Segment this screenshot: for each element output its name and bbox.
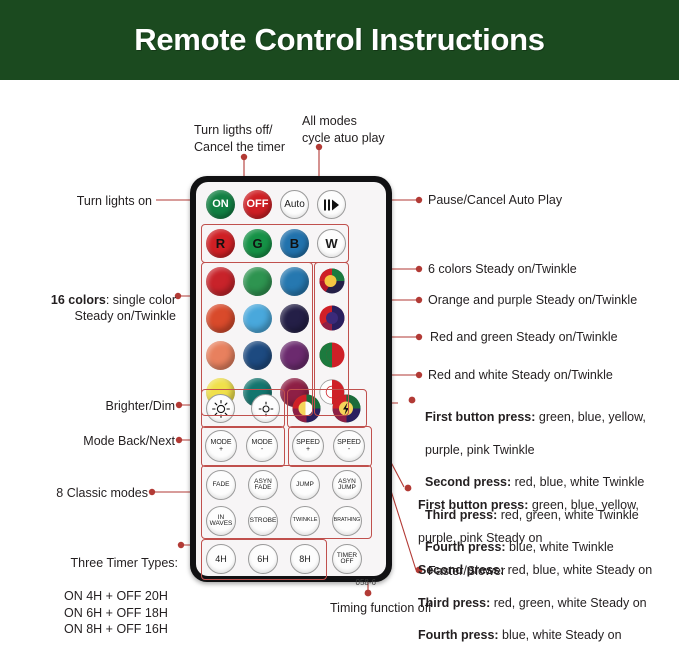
multicolor-twinkle-button[interactable]: [332, 394, 361, 423]
anno-16-colors: 16 colors: single color Steady on/Twinkl…: [18, 275, 176, 325]
color-swatch[interactable]: [280, 304, 309, 333]
pause-play-button[interactable]: [317, 190, 346, 219]
color-green-button[interactable]: G: [243, 229, 272, 258]
color-swatch[interactable]: [206, 267, 235, 296]
multicolor-wheel-icon: [292, 394, 321, 423]
color-swatch[interactable]: [280, 267, 309, 296]
power-off-button[interactable]: OFF: [243, 190, 272, 219]
anno-16-colors-bold: 16 colors: [51, 293, 106, 307]
st-1-rest: purple, pink Steady on: [418, 531, 542, 545]
brightness-up-button[interactable]: [206, 394, 235, 423]
anno-three-timer-types: Three Timer Types: ON 4H + OFF 20H ON 6H…: [22, 538, 178, 654]
color-swatch[interactable]: [243, 304, 272, 333]
mode-asyn-fade-button[interactable]: ASYN FADE: [248, 470, 278, 500]
red-green-wheel-icon: [319, 342, 345, 368]
color-swatch[interactable]: [243, 267, 272, 296]
page-title: Remote Control Instructions: [134, 22, 544, 58]
mode-asyn-jump-button[interactable]: ASYN JUMP: [332, 470, 362, 500]
color-white-button[interactable]: W: [317, 229, 346, 258]
color-red-button[interactable]: R: [206, 229, 235, 258]
anno-red-white: Red and white Steady on/Twinkle: [428, 367, 668, 384]
anno-mode-back-next: Mode Back/Next: [30, 433, 175, 450]
color-swatch[interactable]: [206, 304, 235, 333]
anno-faster-slower: Faster/Slower: [428, 563, 578, 580]
anno-orange-purple: Orange and purple Steady on/Twinkle: [428, 292, 678, 309]
mode-twinkle-button[interactable]: TWINKLE: [290, 506, 320, 536]
anno-timer-title: Three Timer Types:: [22, 555, 178, 572]
st-4-bold: Fourth press:: [418, 628, 499, 642]
st-3-rest: red, green, white Steady on: [490, 596, 646, 610]
mode-brathing-button[interactable]: BRATHING: [332, 506, 362, 536]
mode-minus-button[interactable]: MODE -: [246, 430, 278, 462]
timer-off-button[interactable]: TIMER OFF: [332, 544, 362, 574]
mode-strobe-button[interactable]: STROBE: [248, 506, 278, 536]
anno-8-classic-modes: 8 Classic modes: [20, 485, 148, 502]
mode-plus-button[interactable]: MODE +: [205, 430, 237, 462]
mode-fade-button[interactable]: FADE: [206, 470, 236, 500]
st-0-rest: green, blue, yellow,: [528, 498, 639, 512]
st-4-rest: blue, white Steady on: [499, 628, 622, 642]
brightness-down-icon: [256, 399, 276, 419]
timer-8h-button[interactable]: 8H: [290, 544, 320, 574]
orange-purple-button[interactable]: [319, 305, 345, 331]
anno-timing-function-off: Timing function off: [330, 600, 510, 617]
anno-brighter-dim: Brighter/Dim: [40, 398, 175, 415]
tw-1-rest: purple, pink Twinkle: [425, 443, 535, 457]
power-on-button[interactable]: ON: [206, 190, 235, 219]
brightness-down-button[interactable]: [251, 394, 280, 423]
multicolor-lightning-icon: [332, 394, 361, 423]
auto-button[interactable]: Auto: [280, 190, 309, 219]
color-swatch[interactable]: [243, 341, 272, 370]
orange-purple-wheel-icon: [319, 305, 345, 331]
speed-plus-button[interactable]: SPEED +: [292, 430, 324, 462]
remote-control-device: ON OFF Auto R G B W: [190, 176, 392, 582]
multicolor-steady-button[interactable]: [292, 394, 321, 423]
speed-minus-button[interactable]: SPEED -: [333, 430, 365, 462]
color-swatch[interactable]: [280, 341, 309, 370]
anno-red-green: Red and green Steady on/Twinkle: [430, 329, 670, 346]
six-color-wheel-icon: [319, 268, 345, 294]
anno-pause-cancel: Pause/Cancel Auto Play: [428, 192, 648, 209]
six-colors-button[interactable]: [319, 268, 345, 294]
model-number: 058-6: [356, 578, 376, 587]
anno-all-modes-auto: All modes cycle atuo play: [302, 113, 422, 146]
pause-play-icon: [323, 198, 340, 212]
color-blue-button[interactable]: B: [280, 229, 309, 258]
red-green-button[interactable]: [319, 342, 345, 368]
mode-jump-button[interactable]: JUMP: [290, 470, 320, 500]
remote-face: ON OFF Auto R G B W: [196, 182, 386, 576]
tw-0-rest: green, blue, yellow,: [535, 410, 646, 424]
page-header: Remote Control Instructions: [0, 0, 679, 80]
st-0-bold: First button press:: [418, 498, 528, 512]
anno-turn-lights-on: Turn lights on: [20, 193, 152, 210]
timer-4h-button[interactable]: 4H: [206, 544, 236, 574]
mode-in-waves-button[interactable]: IN WAVES: [206, 506, 236, 536]
anno-timer-lines: ON 4H + OFF 20H ON 6H + OFF 18H ON 8H + …: [22, 588, 178, 638]
tw-0-bold: First button press:: [425, 410, 535, 424]
anno-six-colors: 6 colors Steady on/Twinkle: [428, 261, 658, 278]
timer-6h-button[interactable]: 6H: [248, 544, 278, 574]
color-swatch[interactable]: [206, 341, 235, 370]
brightness-up-icon: [211, 399, 231, 419]
